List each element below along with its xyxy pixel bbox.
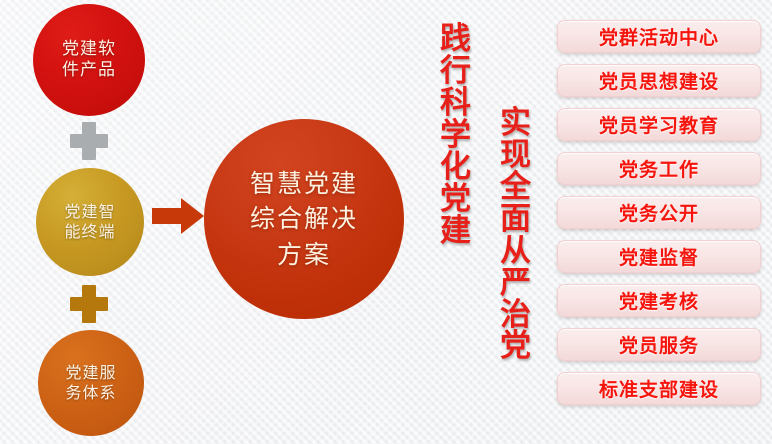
input-circle-software[interactable]: 党建软 件产品 (33, 4, 145, 116)
module-list: 党群活动中心 党员思想建设 党员学习教育 党务工作 党务公开 党建监督 党建考核… (557, 20, 761, 405)
module-button-party-affairs-work[interactable]: 党务工作 (557, 152, 761, 185)
module-button-party-mass-activity-center[interactable]: 党群活动中心 (557, 20, 761, 53)
input-circle-service[interactable]: 党建服 务体系 (38, 330, 144, 436)
input-circle-software-line-2: 件产品 (62, 60, 116, 81)
module-button-party-building-assessment[interactable]: 党建考核 (557, 284, 761, 317)
module-button-label: 党员服务 (619, 331, 699, 358)
plus-icon (70, 285, 108, 323)
slogan-char: 现 (500, 140, 531, 172)
slogan-char: 严 (500, 268, 531, 300)
solution-line-2: 综合解决 (250, 201, 358, 237)
solution-circle[interactable]: 智慧党建 综合解决 方案 (204, 119, 404, 319)
slogan-char: 从 (500, 236, 531, 268)
module-button-label: 党建监督 (619, 243, 699, 270)
module-button-label: 党员思想建设 (599, 67, 719, 94)
slogan-char: 实 (500, 108, 531, 140)
module-button-member-service[interactable]: 党员服务 (557, 328, 761, 361)
input-circle-software-line-1: 党建软 (62, 39, 116, 60)
slogan-char: 化 (440, 152, 471, 184)
solution-line-3: 方案 (277, 237, 331, 273)
module-button-label: 党建考核 (619, 287, 699, 314)
slogan-char: 治 (500, 300, 531, 332)
slogan-char: 全 (500, 172, 531, 204)
vertical-slogan-practice: 践 行 科 学 化 党 建 (440, 24, 471, 247)
slogan-char: 建 (440, 216, 471, 248)
module-button-party-building-supervision[interactable]: 党建监督 (557, 240, 761, 273)
input-circle-service-line-2: 务体系 (65, 383, 116, 403)
slogan-char: 行 (440, 56, 471, 88)
module-button-label: 党务工作 (619, 155, 699, 182)
slogan-char: 党 (440, 184, 471, 216)
infographic-canvas: 党建软 件产品 党建智 能终端 党建服 务体系 智慧党建 综合解决 方案 践 行… (0, 0, 772, 444)
vertical-slogan-achieve: 实 现 全 面 从 严 治 党 (500, 108, 531, 363)
input-circle-terminal-line-2: 能终端 (64, 222, 115, 242)
slogan-char: 践 (440, 24, 471, 56)
module-button-member-study-education[interactable]: 党员学习教育 (557, 108, 761, 141)
module-button-member-ideological-construction[interactable]: 党员思想建设 (557, 64, 761, 97)
module-button-label: 党员学习教育 (599, 111, 719, 138)
module-button-label: 标准支部建设 (599, 375, 719, 402)
input-circle-terminal-line-1: 党建智 (64, 202, 115, 222)
plus-icon (70, 122, 108, 160)
right-arrow-icon (152, 197, 204, 235)
slogan-char: 科 (440, 88, 471, 120)
module-button-party-affairs-disclosure[interactable]: 党务公开 (557, 196, 761, 229)
slogan-char: 面 (500, 204, 531, 236)
slogan-char: 学 (440, 120, 471, 152)
input-circle-service-line-1: 党建服 (65, 363, 116, 383)
solution-line-1: 智慧党建 (250, 166, 358, 202)
input-circle-terminal[interactable]: 党建智 能终端 (36, 168, 144, 276)
module-button-label: 党务公开 (619, 199, 699, 226)
module-button-standard-branch-construction[interactable]: 标准支部建设 (557, 372, 761, 405)
module-button-label: 党群活动中心 (599, 23, 719, 50)
slogan-char: 党 (500, 331, 531, 363)
